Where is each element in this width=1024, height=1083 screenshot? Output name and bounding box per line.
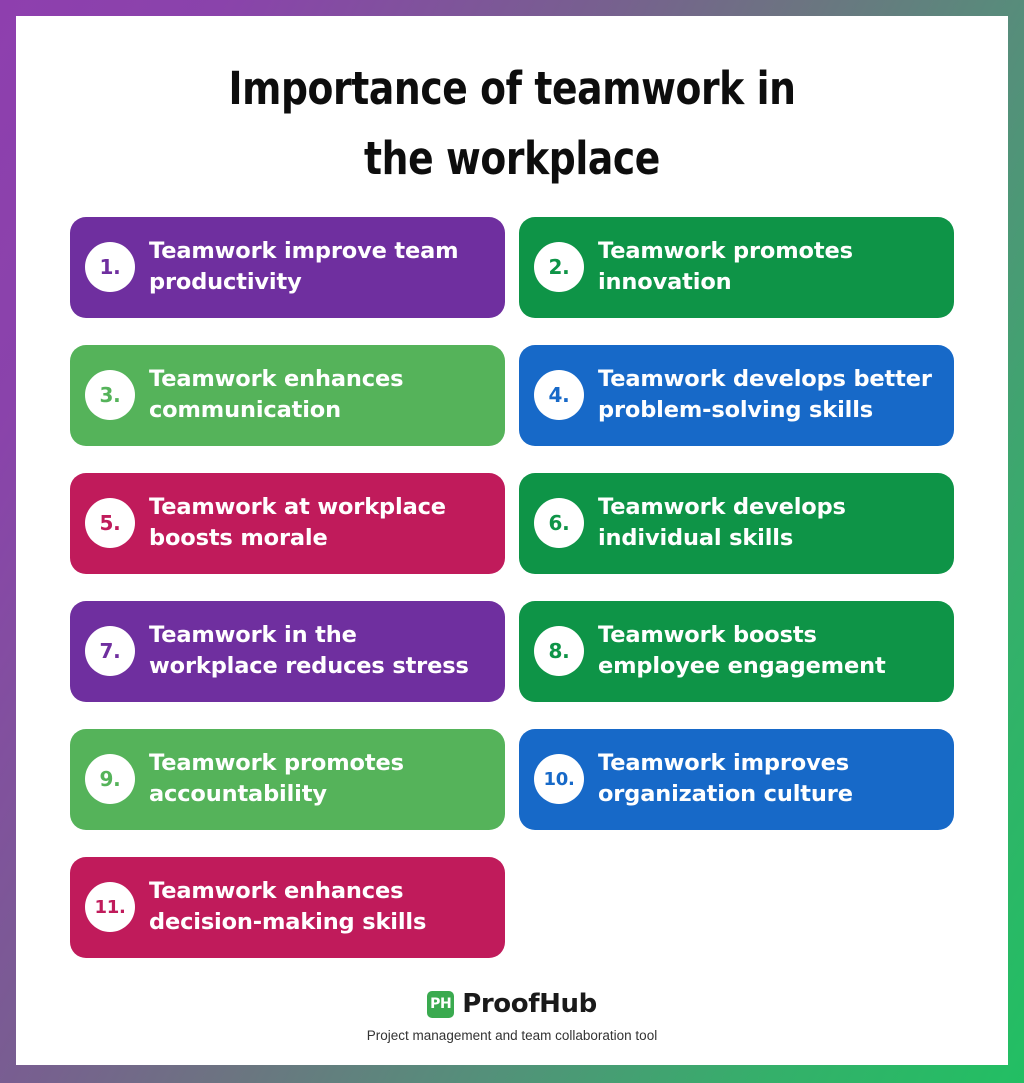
footer-tagline: Project management and team collaboratio… xyxy=(70,1028,954,1043)
benefit-label: Teamwork promotes innovation xyxy=(598,236,938,298)
benefit-label: Teamwork enhances decision-making skills xyxy=(149,876,489,938)
benefit-card: 6.Teamwork develops individual skills xyxy=(519,473,954,574)
benefit-card: 5.Teamwork at workplace boosts morale xyxy=(70,473,505,574)
benefit-label: Teamwork in the workplace reduces stress xyxy=(149,620,489,682)
benefit-card: 2.Teamwork promotes innovation xyxy=(519,217,954,318)
benefit-card: 7.Teamwork in the workplace reduces stre… xyxy=(70,601,505,702)
benefit-label: Teamwork promotes accountability xyxy=(149,748,489,810)
benefit-card: 3.Teamwork enhances communication xyxy=(70,345,505,446)
benefit-card: 11.Teamwork enhances decision-making ski… xyxy=(70,857,505,958)
benefit-number-badge: 4. xyxy=(534,370,584,420)
benefit-number-badge: 1. xyxy=(85,242,135,292)
benefit-number-badge: 2. xyxy=(534,242,584,292)
benefit-label: Teamwork enhances communication xyxy=(149,364,489,426)
benefit-label: Teamwork at workplace boosts morale xyxy=(149,492,489,554)
benefit-label: Teamwork boosts employee engagement xyxy=(598,620,938,682)
benefit-label: Teamwork develops individual skills xyxy=(598,492,938,554)
benefit-label: Teamwork improve team productivity xyxy=(149,236,489,298)
page-title-line-2: the workplace xyxy=(101,124,923,194)
benefit-number-badge: 10. xyxy=(534,754,584,804)
benefit-number-badge: 7. xyxy=(85,626,135,676)
infographic-sheet: Importance of teamwork in the workplace … xyxy=(16,16,1008,1065)
benefit-number-badge: 3. xyxy=(85,370,135,420)
benefit-card: 10.Teamwork improves organization cultur… xyxy=(519,729,954,830)
page-title-line-1: Importance of teamwork in xyxy=(101,54,923,124)
benefit-label: Teamwork develops better problem-solving… xyxy=(598,364,938,426)
benefit-number-badge: 6. xyxy=(534,498,584,548)
benefit-card: 9.Teamwork promotes accountability xyxy=(70,729,505,830)
benefit-number-badge: 9. xyxy=(85,754,135,804)
proofhub-logo: PH ProofHub xyxy=(70,989,954,1019)
benefit-card: 1.Teamwork improve team productivity xyxy=(70,217,505,318)
benefit-card: 8.Teamwork boosts employee engagement xyxy=(519,601,954,702)
page-title: Importance of teamwork in the workplace xyxy=(70,16,954,194)
benefit-number-badge: 8. xyxy=(534,626,584,676)
benefit-number-badge: 11. xyxy=(85,882,135,932)
benefit-label: Teamwork improves organization culture xyxy=(598,748,938,810)
proofhub-mark-icon: PH xyxy=(427,991,454,1018)
proofhub-brand-name: ProofHub xyxy=(462,989,597,1019)
benefit-number-badge: 5. xyxy=(85,498,135,548)
teamwork-benefits-grid: 1.Teamwork improve team productivity2.Te… xyxy=(70,217,954,958)
benefit-card: 4.Teamwork develops better problem-solvi… xyxy=(519,345,954,446)
footer: PH ProofHub Project management and team … xyxy=(70,989,954,1065)
